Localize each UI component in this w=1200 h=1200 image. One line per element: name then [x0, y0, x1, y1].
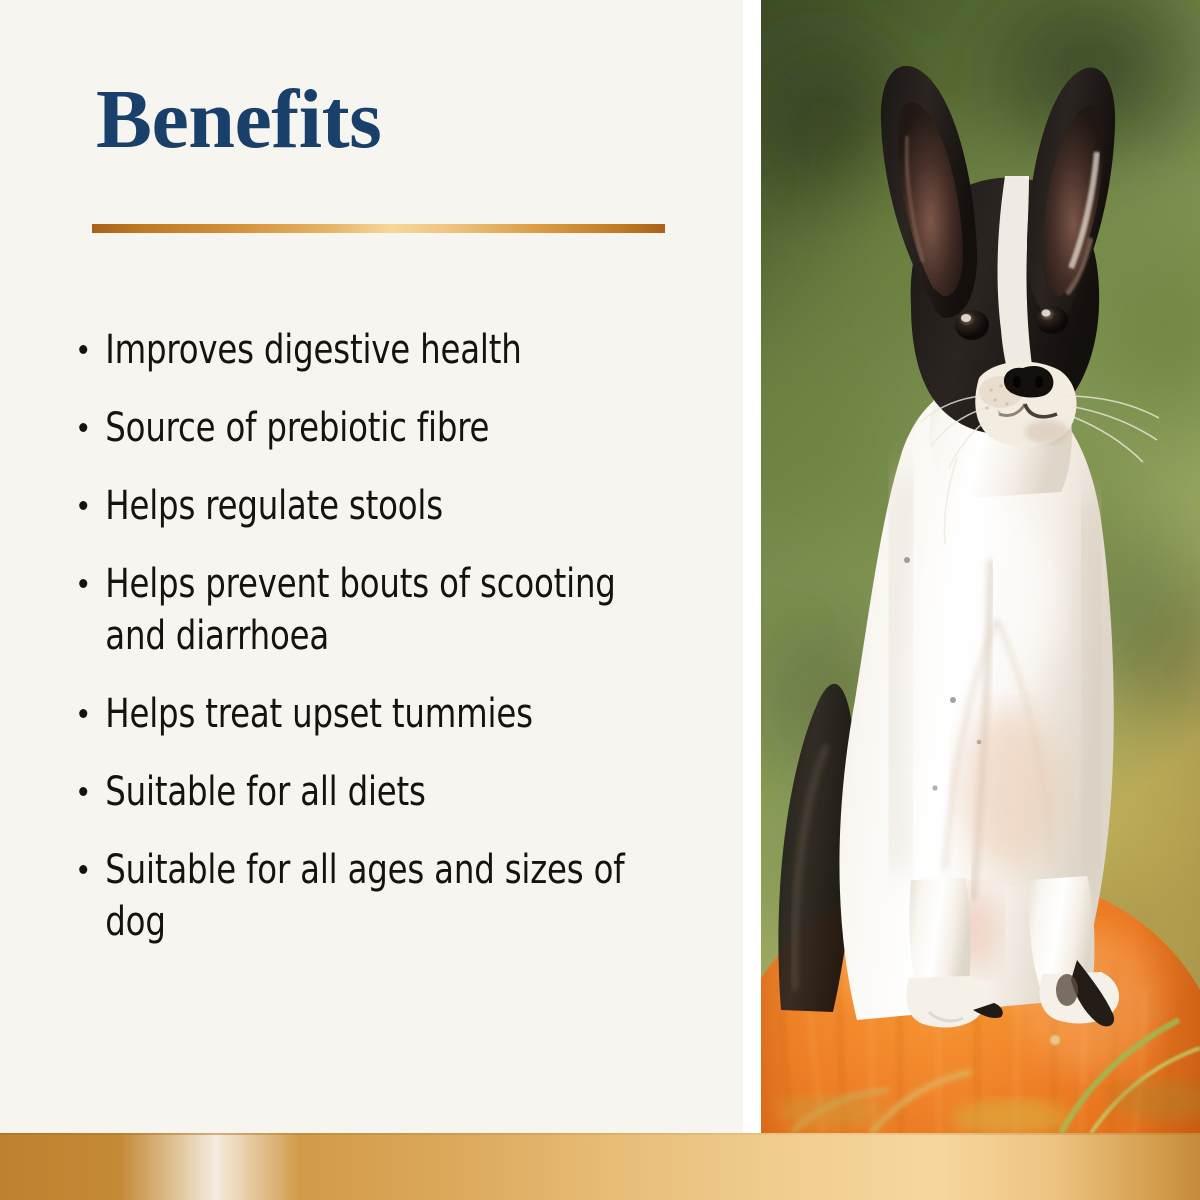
bullet-icon: [79, 709, 87, 718]
bullet-icon: [79, 579, 87, 588]
list-item: Improves digestive health: [72, 324, 657, 376]
list-item-label: Suitable for all ages and sizes of dog: [105, 847, 624, 945]
list-item: Helps regulate stools: [72, 480, 657, 532]
list-item-label: Source of prebiotic fibre: [105, 405, 489, 451]
benefits-poster: Benefits Improves digestive health Sourc…: [0, 0, 1200, 1200]
product-photo: [761, 0, 1200, 1133]
list-item-label: Improves digestive health: [105, 327, 521, 373]
list-item: Helps treat upset tummies: [72, 688, 657, 740]
list-item: Source of prebiotic fibre: [72, 402, 657, 454]
title-divider: [92, 224, 665, 233]
list-item-label: Helps treat upset tummies: [105, 691, 533, 737]
text-panel: Benefits Improves digestive health Sourc…: [0, 0, 743, 1200]
panel-divider-gap: [743, 0, 761, 1133]
footer-gradient-bar: [0, 1133, 1200, 1200]
list-item-label: Suitable for all diets: [105, 769, 425, 815]
list-item: Suitable for all diets: [72, 766, 657, 818]
bullet-icon: [79, 423, 87, 432]
list-item-label: Helps regulate stools: [105, 483, 443, 529]
bullet-icon: [79, 501, 87, 510]
page-title: Benefits: [96, 78, 381, 162]
footer-bar-topline: [0, 1133, 1200, 1135]
bullet-icon: [79, 865, 87, 874]
list-item: Suitable for all ages and sizes of dog: [72, 844, 657, 948]
benefits-list: Improves digestive health Source of preb…: [72, 324, 722, 948]
bullet-icon: [79, 345, 87, 354]
list-item: Helps prevent bouts of scooting and diar…: [72, 558, 657, 662]
bullet-icon: [79, 787, 87, 796]
dog-on-pumpkin-photo: [761, 0, 1200, 1133]
list-item-label: Helps prevent bouts of scooting and diar…: [105, 561, 615, 659]
